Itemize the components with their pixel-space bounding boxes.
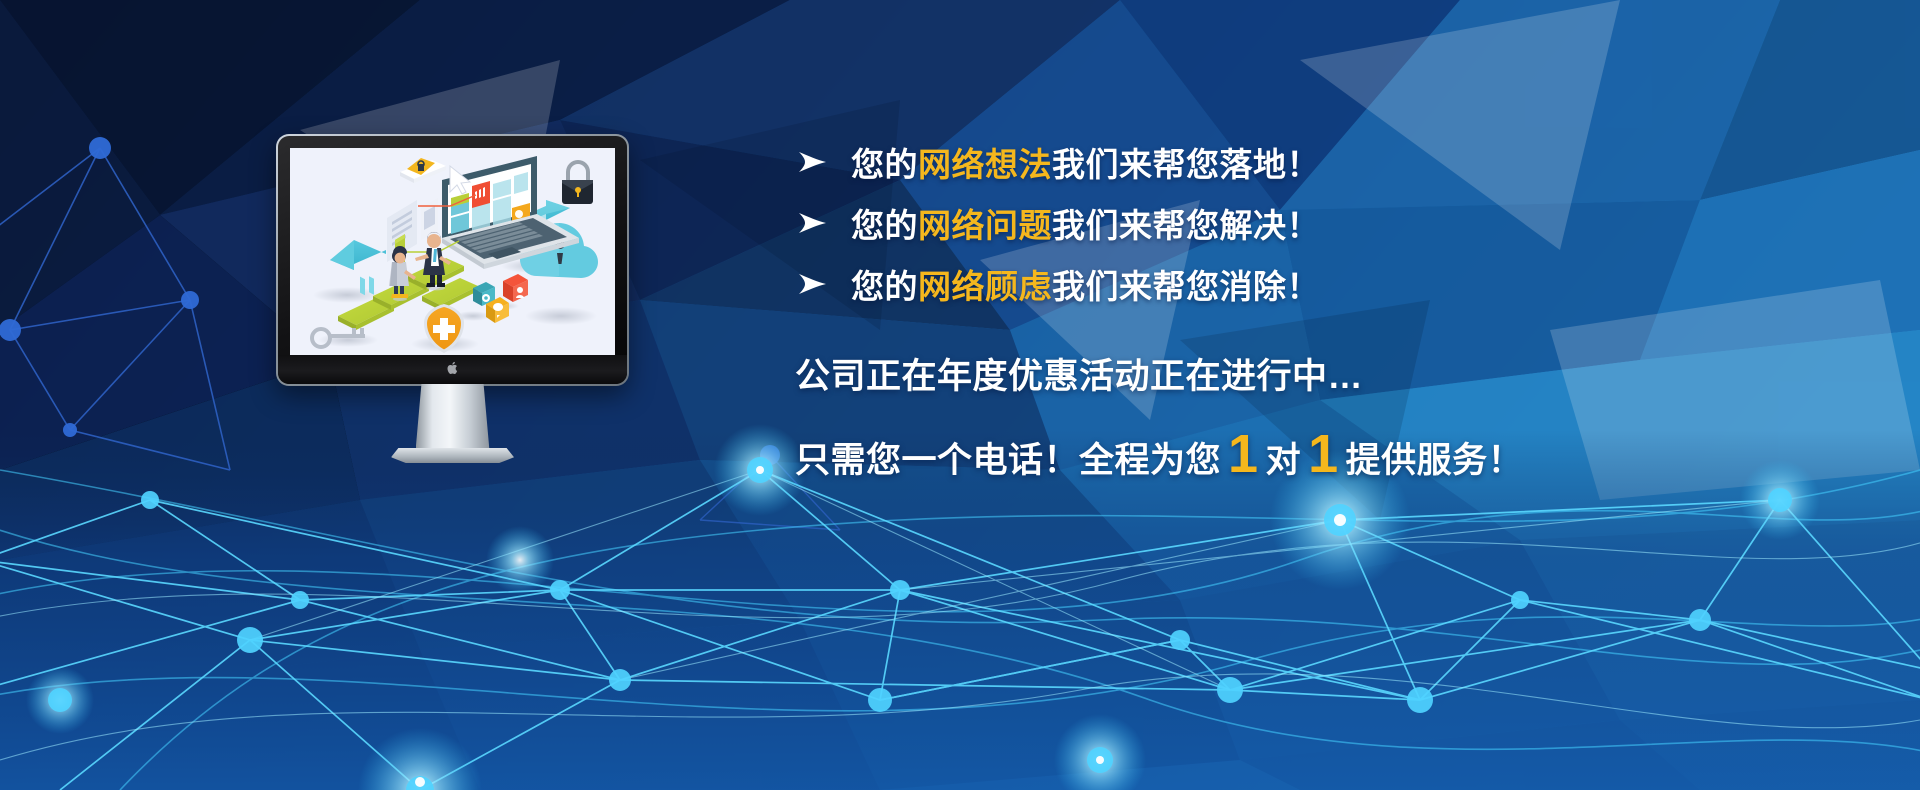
bullet-line-2: 您的网络问题我们来帮您解决！ xyxy=(795,192,1535,253)
promo-line-1: 公司正在年度优惠活动正在进行中… xyxy=(795,348,1535,399)
promo-number-second: 1 xyxy=(1301,433,1346,476)
promo-line-2-lead: 只需您一个电话！全程为您 xyxy=(795,432,1221,483)
monitor-chin xyxy=(278,355,627,384)
arrow-right-icon xyxy=(795,151,829,173)
bullet-suffix-2: 我们来帮您解决！ xyxy=(1052,207,1320,244)
bullet-highlight-2: 网络问题 xyxy=(918,207,1052,244)
bullet-highlight-1: 网络想法 xyxy=(918,146,1052,183)
monitor-stand-base xyxy=(391,448,514,463)
bullet-text-2: 您的网络问题我们来帮您解决！ xyxy=(851,199,1320,247)
promo-line-2-tail: 提供服务！ xyxy=(1346,432,1524,483)
promo-line-2: 只需您一个电话！全程为您 1 对 1 提供服务！ xyxy=(795,432,1535,483)
monitor-stand-neck xyxy=(416,384,490,451)
bullet-prefix-2: 您的 xyxy=(851,207,918,244)
apple-logo xyxy=(447,361,459,375)
bullet-prefix-1: 您的 xyxy=(851,146,918,183)
isometric-network-security-illustration xyxy=(290,148,615,355)
arrow-right-icon xyxy=(795,212,829,234)
bullet-suffix-3: 我们来帮您消除！ xyxy=(1052,268,1320,305)
headline-copy-column: 您的网络想法我们来帮您落地！ 您的网络问题我们来帮您解决！ 您的网络顾虑我们来帮… xyxy=(795,131,1535,483)
bullet-line-3: 您的网络顾虑我们来帮您消除！ xyxy=(795,253,1535,314)
promo-number-first: 1 xyxy=(1221,433,1266,476)
bullet-prefix-3: 您的 xyxy=(851,268,918,305)
arrow-right-icon xyxy=(795,273,829,295)
bullet-text-1: 您的网络想法我们来帮您落地！ xyxy=(851,138,1320,186)
bullet-line-1: 您的网络想法我们来帮您落地！ xyxy=(795,131,1535,192)
imac-monitor xyxy=(276,134,629,386)
promo-line-2-mid: 对 xyxy=(1266,432,1302,483)
bullet-text-3: 您的网络顾虑我们来帮您消除！ xyxy=(851,260,1320,308)
bullet-highlight-3: 网络顾虑 xyxy=(918,268,1052,305)
monitor-screen xyxy=(290,148,615,355)
promo-banner: 您的网络想法我们来帮您落地！ 您的网络问题我们来帮您解决！ 您的网络顾虑我们来帮… xyxy=(0,0,1920,790)
bullet-suffix-1: 我们来帮您落地！ xyxy=(1052,146,1320,183)
